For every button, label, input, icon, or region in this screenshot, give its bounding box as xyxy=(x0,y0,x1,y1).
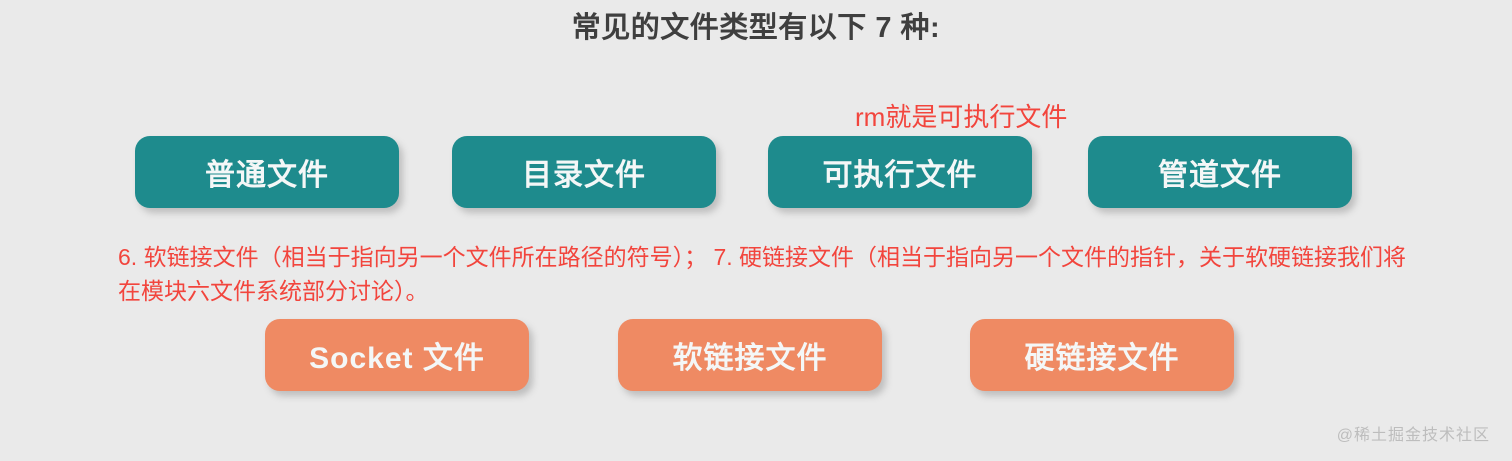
rm-annotation-text: rm就是可执行文件 xyxy=(855,97,1067,134)
file-type-card-executable[interactable]: 可执行文件 xyxy=(768,136,1032,208)
file-type-card-hardlink[interactable]: 硬链接文件 xyxy=(970,319,1234,391)
file-type-card-directory[interactable]: 目录文件 xyxy=(452,136,716,208)
file-type-card-pipe[interactable]: 管道文件 xyxy=(1088,136,1352,208)
file-type-card-socket[interactable]: Socket 文件 xyxy=(265,319,529,391)
file-type-card-symlink[interactable]: 软链接文件 xyxy=(618,319,882,391)
file-type-row-primary: 普通文件 目录文件 可执行文件 管道文件 xyxy=(0,136,1512,210)
link-file-explanation-note: 6. 软链接文件（相当于指向另一个文件所在路径的符号）； 7. 硬链接文件（相当… xyxy=(118,240,1408,308)
watermark-label: @稀土掘金技术社区 xyxy=(1337,421,1490,445)
file-type-card-regular[interactable]: 普通文件 xyxy=(135,136,399,208)
file-type-row-secondary: Socket 文件 软链接文件 硬链接文件 xyxy=(0,319,1512,393)
slide-canvas: 常见的文件类型有以下 7 种: rm就是可执行文件 普通文件 目录文件 可执行文… xyxy=(0,0,1512,461)
page-title: 常见的文件类型有以下 7 种: xyxy=(0,4,1512,46)
